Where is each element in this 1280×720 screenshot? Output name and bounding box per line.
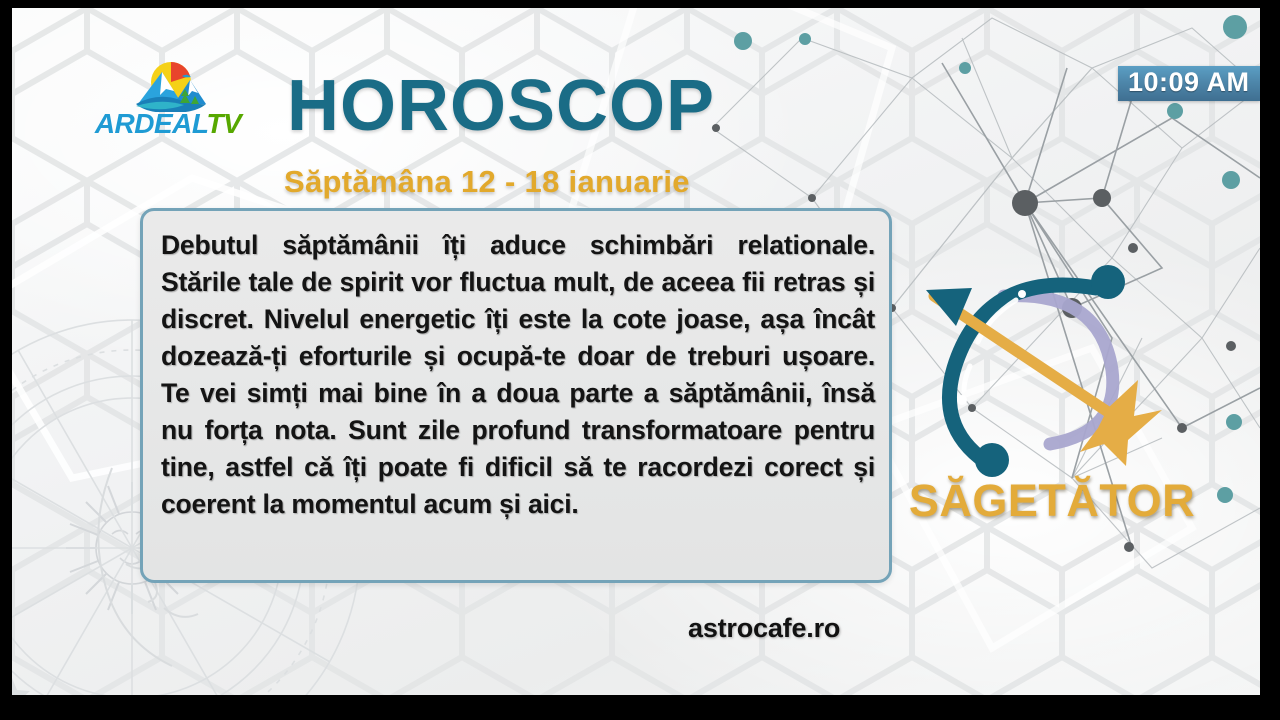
channel-name: ARDEALTV xyxy=(78,110,258,138)
zodiac-sign-name: SĂGETĂTOR xyxy=(892,478,1212,523)
week-range-subtitle: Săptămâna 12 - 18 ianuarie xyxy=(284,166,690,197)
horoscope-body-text: Debutul săptămânii îți aduce schimbări r… xyxy=(161,227,875,523)
clock-badge: 10:09 AM xyxy=(1118,66,1260,101)
channel-name-secondary: TV xyxy=(206,108,241,139)
source-website-url: astrocafe.ro xyxy=(688,613,840,644)
sagittarius-bow-arrow-icon xyxy=(912,248,1182,488)
channel-name-primary: ARDEAL xyxy=(95,108,207,139)
broadcast-screen: ARDEALTV 10:09 AM HOROSCOP Săptămâna 12 … xyxy=(0,0,1280,720)
channel-logo: ARDEALTV xyxy=(78,60,258,142)
page-title: HOROSCOP xyxy=(287,70,715,142)
video-frame: ARDEALTV 10:09 AM HOROSCOP Săptămâna 12 … xyxy=(12,8,1260,695)
horoscope-text-panel: Debutul săptămânii îți aduce schimbări r… xyxy=(140,208,892,583)
mountain-sun-logo-icon xyxy=(78,60,258,112)
